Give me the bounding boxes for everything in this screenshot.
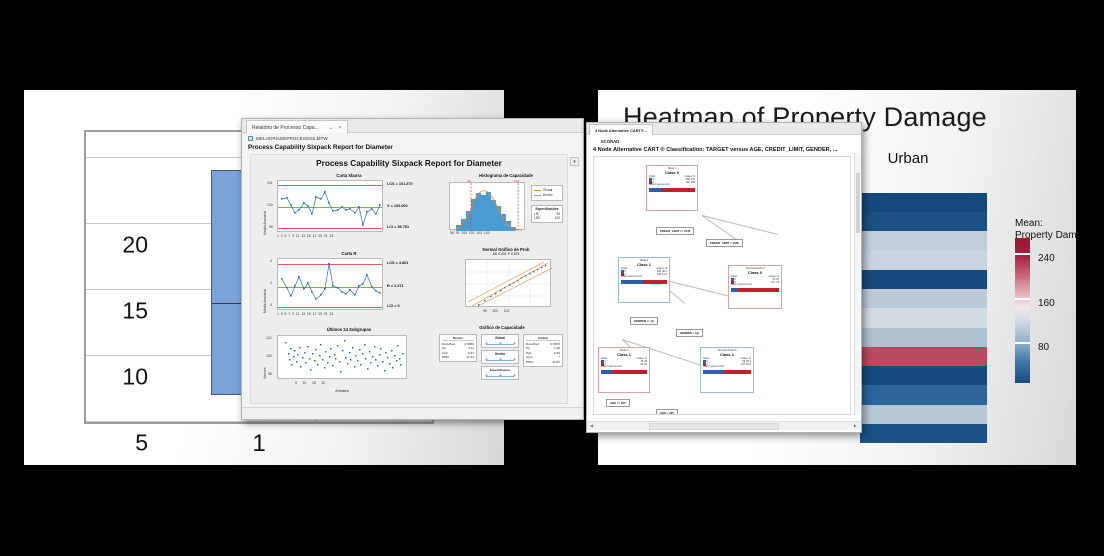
node-4-bar-label: Node 4 percent error xyxy=(599,366,649,369)
node-1-count-1: 118 xyxy=(686,181,690,184)
split-label-1: CREDIT_LIMIT <= 1545 xyxy=(656,227,694,235)
overall-table-head: Global xyxy=(526,336,560,341)
xbar-y-tick-99: 99 xyxy=(269,225,273,229)
colorbar-tick-160: 160 xyxy=(1038,298,1055,309)
xbar-chart-title: Carta Xbarra xyxy=(259,173,439,178)
heatmap-cell-9 xyxy=(860,366,987,385)
heatmap-cell-3 xyxy=(860,251,987,270)
last-subgroups-panel: Últimos 24 Subgrupos Valores 102 100 98 xyxy=(259,327,439,399)
ruler-especificacoes: Especificações +++ xyxy=(481,366,519,380)
histogram-x-ticks: 98 99 100 101 102 103 xyxy=(450,231,490,235)
tab-cart-classification[interactable]: 4 Node Alternative CART®... xyxy=(589,124,653,135)
within-ppm-value: 13.43 xyxy=(466,355,474,359)
heatmap-cell-1 xyxy=(860,212,987,231)
histogram-panel: Histograma de Capacidade xyxy=(447,173,565,243)
tree-node-2[interactable]: Node 2 Class 1 ClassCases% 019048.2 1199… xyxy=(618,257,670,303)
cart-window[interactable]: 4 Node Alternative CART®... SCORAD 4 Nod… xyxy=(586,122,862,433)
ruler-global: Global +++ xyxy=(481,334,519,348)
tab-label: Relatório de Processo Capa... xyxy=(252,125,319,131)
r-y-tick-0: 0 xyxy=(270,303,272,307)
cart-subtitle: SCORAD xyxy=(601,139,619,144)
overall-stats-table: Global DesvPad 0.5873 Pp 1.08 Ppk 0.36 xyxy=(523,334,563,367)
r-chart-panel: Carta R Média Amostral 4 2 0 xyxy=(259,251,439,321)
heatmap-cell-6 xyxy=(860,308,987,327)
tab-relatorio-processo[interactable]: Relatório de Processo Capa... ⌄ × xyxy=(246,120,348,133)
histogram-lse-mark: LSE xyxy=(514,179,519,183)
minitab-heading: Process Capability Sixpack Report for Di… xyxy=(248,144,393,151)
worksheet-indicator: MELHORIADEPROCESSOS.MTW xyxy=(248,136,328,141)
split-label-4: GENDER = (g) xyxy=(676,329,703,337)
heatmap-cell-12 xyxy=(860,424,987,443)
normal-plot-area xyxy=(465,259,551,307)
heatmap-cell-2 xyxy=(860,231,987,250)
heatmap-cell-8 xyxy=(860,347,987,366)
xbar-y-axis-label: Média Amostral xyxy=(263,211,267,235)
xbar-series xyxy=(278,181,384,233)
r-y-axis-label: Média Amostral xyxy=(263,289,267,313)
minitab-tabbar: Relatório de Processo Capa... ⌄ × xyxy=(242,119,583,133)
minitab-window[interactable]: Relatório de Processo Capa... ⌄ × MELHOR… xyxy=(241,118,584,420)
xbar-x-ticks: 1 3 5 7 9 11 13 15 17 19 21 23 xyxy=(277,234,333,238)
subgroups-y-tick-102: 102 xyxy=(266,336,272,340)
heatmap-cell-11 xyxy=(860,405,987,424)
gridline-0 xyxy=(86,421,432,422)
tree-node-root[interactable]: Node 1 Class 0 ClassCases% 0896641 11183… xyxy=(646,165,698,211)
node-3-pct-1: 72 xyxy=(776,281,779,284)
node-5-bar-label: Node 5 percent error xyxy=(701,366,753,369)
colorbar-notch-80 xyxy=(1015,342,1030,344)
xbar-lcl-label: LCI = 98.751 xyxy=(387,225,409,229)
overall-ppm-value: 12.97 xyxy=(552,360,560,364)
heatmap-cell-4 xyxy=(860,270,987,289)
node-1-table: ClassCases% 0896641 1118359 xyxy=(647,175,697,184)
cart-tab-label: 4 Node Alternative CART®... xyxy=(595,128,647,133)
subgroups-scatter xyxy=(278,336,408,380)
xbar-chart-panel: Carta Xbarra Média Amostral 101 100 99 xyxy=(259,173,439,243)
overall-ppm-label: PPM xyxy=(526,360,533,364)
xbar-plot-area xyxy=(277,180,383,232)
cart-horizontal-scrollbar[interactable]: ◀ ▶ xyxy=(587,421,861,430)
xbar-center-label: X = 100.060 xyxy=(387,204,408,208)
node-4-table: ClassCases% 07846 19254 xyxy=(599,357,649,366)
legend-title-line1: Mean: xyxy=(1015,218,1085,230)
r-y-tick-4: 4 xyxy=(270,259,272,263)
ruler-global-line: +++ xyxy=(482,340,518,348)
histogram-bars xyxy=(450,183,526,231)
colorbar-tick-80: 80 xyxy=(1038,342,1049,353)
node-5-bar xyxy=(703,370,751,374)
heatmap-cell-7 xyxy=(860,328,987,347)
cart-tree-canvas[interactable]: Node 1 Class 0 ClassCases% 0896641 11183… xyxy=(593,156,851,415)
cart-vscroll-thumb[interactable] xyxy=(856,173,860,233)
cart-vertical-scrollbar[interactable] xyxy=(854,153,860,415)
spec-lse-label: LSE xyxy=(534,216,540,220)
y-tick-20: 20 xyxy=(108,232,148,259)
node-1-bar-label: Node 1 percent error xyxy=(647,184,697,187)
node-2-bar xyxy=(621,280,667,284)
subgroups-y-tick-98: 98 xyxy=(268,372,272,376)
node-4-bar xyxy=(601,370,647,374)
split-label-6: AGE > 325 xyxy=(656,409,678,415)
worksheet-icon xyxy=(248,136,253,141)
node-3-bar xyxy=(731,288,779,292)
heatmap-cell-5 xyxy=(860,289,987,308)
ruler-dentro: Dentro +++ xyxy=(481,350,519,364)
capability-chart-panel: Gráfico de Capacidade Dentro DesvPad 0.5… xyxy=(437,325,567,399)
overall-row-ppm: PPM 12.97 xyxy=(526,360,560,364)
r-series xyxy=(278,259,384,311)
node-2-table: ClassCases% 019048.2 119951.8 xyxy=(619,267,669,276)
subgroups-y-tick-100: 100 xyxy=(266,354,272,358)
colorbar-tick-240: 240 xyxy=(1038,253,1055,264)
histogram-plot-area: LIE LSE xyxy=(449,182,525,230)
split-label-5: AGE <= 325 xyxy=(606,399,630,407)
subgroups-x-axis-label: Amostra xyxy=(277,389,407,393)
r-y-tick-2: 2 xyxy=(270,281,272,285)
spec-table: Especificações LIE 99 LSE 100 xyxy=(531,205,563,223)
histogram-lie-mark: LIE xyxy=(467,179,471,183)
subgroups-x-ticks: 5 10 15 20 xyxy=(295,381,325,385)
xbar-ucl-label: LCS = 101.370 xyxy=(387,182,413,186)
split-label-3: GENDER <= (f) xyxy=(630,317,658,325)
y-tick-10: 10 xyxy=(108,364,148,391)
node-5-pct-1: 64.9 xyxy=(746,363,751,366)
cart-tabbar: 4 Node Alternative CART®... xyxy=(587,123,861,135)
heatmap-cell-0 xyxy=(860,193,987,212)
worksheet-name: MELHORIADEPROCESSOS.MTW xyxy=(256,136,328,141)
node-4-pct-1: 54 xyxy=(644,363,647,366)
minitab-statusbar xyxy=(242,407,583,419)
tree-node-3[interactable]: Terminal Node 3 Class 0 ClassCases% 0402… xyxy=(728,265,782,309)
xbar-y-tick-101: 101 xyxy=(267,181,273,185)
normal-plot-series xyxy=(466,260,552,308)
histogram-title: Histograma de Capacidade xyxy=(447,173,565,178)
ruler-especificacoes-line: +++ xyxy=(482,372,518,380)
legend-item-dentro: Dentro xyxy=(543,193,553,198)
node-3-table: ClassCases% 04028 110172 xyxy=(729,275,781,284)
within-row-ppm: PPM 13.43 xyxy=(442,355,474,359)
node-2-pct-1: 51.8 xyxy=(662,273,667,276)
r-plot-area xyxy=(277,258,383,310)
subgroups-plot-area xyxy=(277,335,407,379)
tree-node-5[interactable]: Terminal Node 5 Class 1 ClassCases% 0583… xyxy=(700,347,754,393)
normal-plot-panel: Normal Gráfico de Prob AD 0.201 P 0.878 xyxy=(447,247,565,319)
cart-hscroll-thumb[interactable] xyxy=(649,423,779,430)
normal-plot-x-ticks: 98 100 102 xyxy=(483,309,509,313)
r-lcl-label: LCI = 0 xyxy=(387,304,400,308)
tab-controls-icon[interactable]: ⌄ × xyxy=(329,125,344,131)
node-2-count-1: 199 xyxy=(657,273,661,276)
heatmap-cell-10 xyxy=(860,385,987,404)
ruler-dentro-line: +++ xyxy=(482,356,518,364)
scroll-left-icon[interactable]: ◀ xyxy=(590,423,593,428)
heatmap-grid xyxy=(860,193,987,443)
y-tick-15: 15 xyxy=(108,298,148,325)
normal-plot-subtitle: AD 0.201 P 0.878 xyxy=(447,252,565,256)
colorbar-notch-160 xyxy=(1015,298,1030,300)
histogram-legend: Global Dentro xyxy=(531,185,563,201)
subgroups-y-axis-label: Valores xyxy=(263,367,267,379)
node-5-table: ClassCases% 05835.1 110764.9 xyxy=(701,357,753,366)
within-ppm-label: PPM xyxy=(442,355,449,359)
split-label-2: CREDIT_LIMIT > 1545 xyxy=(706,239,743,247)
r-center-label: R = 2.271 xyxy=(387,284,404,288)
node-1-bar xyxy=(649,188,695,192)
node-4-count-1: 92 xyxy=(640,363,643,366)
scroll-right-icon[interactable]: ▶ xyxy=(854,423,857,428)
boxplot-x-category-label: 1 xyxy=(84,430,434,458)
cart-title: 4 Node Alternative CART ® Classification… xyxy=(593,147,838,153)
colorbar-notch-240 xyxy=(1015,253,1030,255)
node-1-pct-1: 359 xyxy=(691,181,695,184)
capability-chart-title: Gráfico de Capacidade xyxy=(437,325,567,330)
xbar-y-tick-100: 100 xyxy=(267,203,273,207)
r-chart-title: Carta R xyxy=(259,251,439,256)
r-x-ticks: 1 3 5 7 9 11 13 15 17 19 21 23 xyxy=(277,312,333,316)
tree-edge-2 xyxy=(702,215,778,235)
r-ucl-label: LCS = 4.801 xyxy=(387,261,408,265)
screenshot-root: Boxplot 20 15 10 5 0 1 Heatmap of Proper… xyxy=(0,0,1104,556)
node-3-bar-label: Node 3 percent error xyxy=(729,284,781,287)
within-stats-table: Dentro DesvPad 0.5866 Cp 1.11 Cpk 0.37 xyxy=(439,334,477,362)
last-subgroups-title: Últimos 24 Subgrupos xyxy=(259,327,439,332)
spec-lse-value: 100 xyxy=(555,216,560,220)
within-table-head: Dentro xyxy=(442,336,474,341)
chevron-down-icon[interactable]: ▾ xyxy=(570,157,579,166)
tree-node-4[interactable]: Node 4 Class 1 ClassCases% 07846 19254 N… xyxy=(598,347,650,393)
heatmap-colorbar xyxy=(1015,238,1030,383)
sixpack-report: Process Capability Sixpack Report for Di… xyxy=(250,154,568,404)
sixpack-report-title: Process Capability Sixpack Report for Di… xyxy=(251,159,567,168)
node-5-count-1: 107 xyxy=(741,363,745,366)
node-3-count-1: 101 xyxy=(771,281,775,284)
node-2-bar-label: Node 2 percent error xyxy=(619,276,669,279)
spec-row-lse: LSE 100 xyxy=(534,216,560,220)
